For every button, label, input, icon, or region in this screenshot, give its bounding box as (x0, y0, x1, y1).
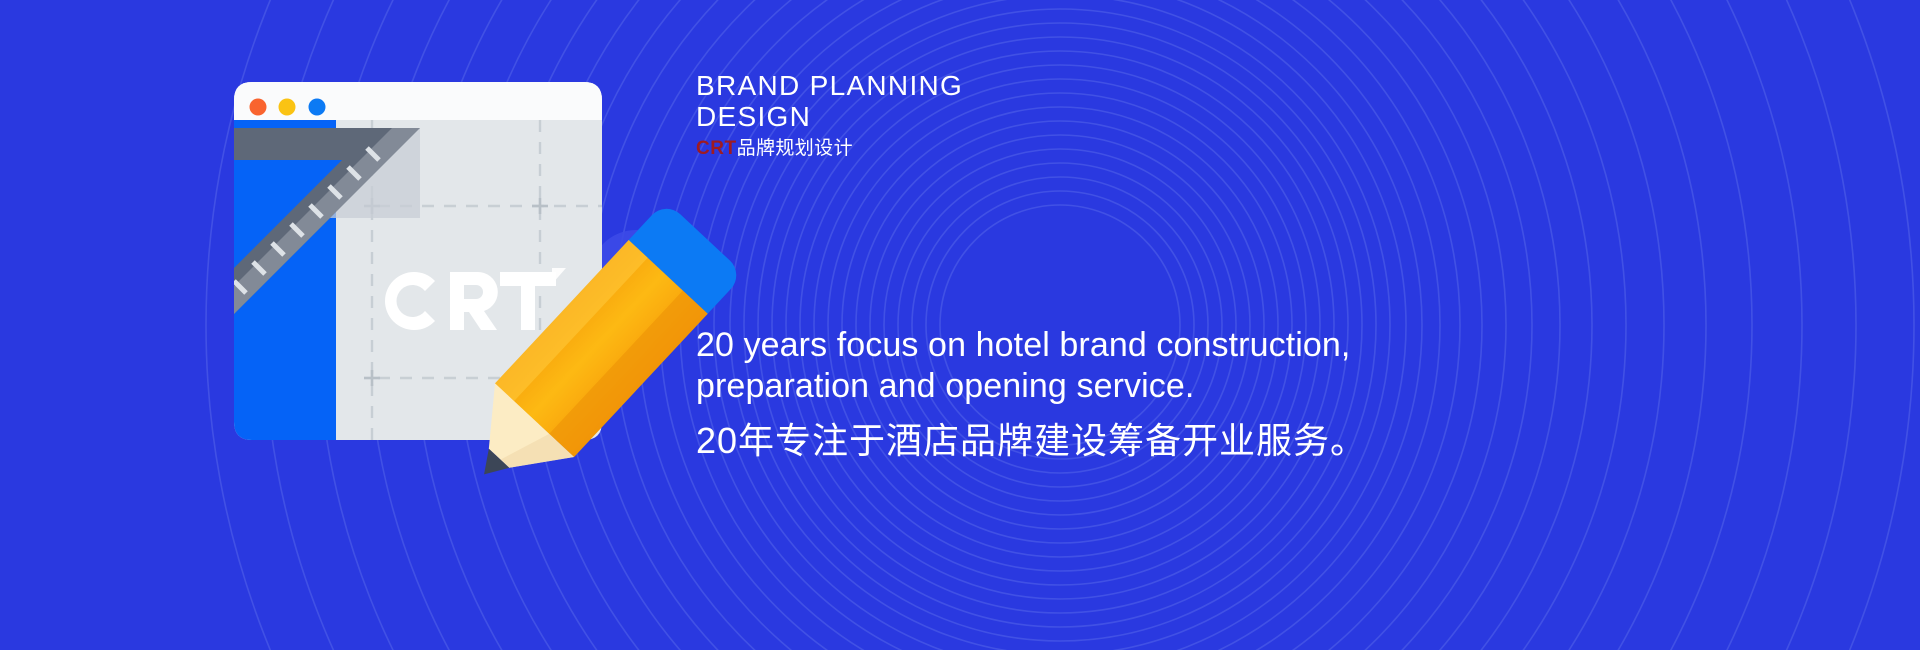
browser-window-mockup (190, 82, 646, 458)
pencil-body-highlight (495, 240, 648, 401)
minimize-dot (279, 99, 296, 116)
pencil-wood-tip (460, 383, 574, 495)
close-dot (250, 99, 267, 116)
blue-sidebar-panel (234, 120, 336, 442)
maximize-dot (309, 99, 326, 116)
heading-block: BRAND PLANNING DESIGN CRT品牌规划设计 (696, 70, 963, 161)
dashed-guide-grid (372, 120, 602, 442)
heading-line-1: BRAND PLANNING (696, 70, 963, 101)
triangle-ruler (190, 128, 420, 358)
pencil-graphite (474, 449, 509, 484)
pencil-body (495, 240, 708, 457)
canvas-crt-logo (385, 268, 566, 330)
decorative-glow (590, 230, 682, 322)
hero-banner: BRAND PLANNING DESIGN CRT品牌规划设计 20 years… (0, 0, 1920, 650)
crt-wordmark: CRT (696, 138, 737, 159)
sub-heading: CRT品牌规划设计 (696, 137, 963, 161)
tagline-chinese: 20年专注于酒店品牌建设筹备开业服务。 (696, 419, 1367, 463)
banner-text-column: BRAND PLANNING DESIGN CRT品牌规划设计 20 years… (696, 0, 1796, 650)
grid-cross-markers (364, 198, 548, 386)
tagline-block: 20 years focus on hotel brand constructi… (696, 325, 1367, 463)
window-title-bar (234, 82, 602, 120)
sub-heading-chinese: 品牌规划设计 (737, 138, 853, 159)
pencil-shadow (520, 300, 646, 458)
window-frame (234, 82, 602, 440)
tagline-english: 20 years focus on hotel brand constructi… (696, 325, 1356, 407)
pencil-body-shade (549, 291, 708, 458)
heading-line-2: DESIGN (696, 101, 963, 132)
